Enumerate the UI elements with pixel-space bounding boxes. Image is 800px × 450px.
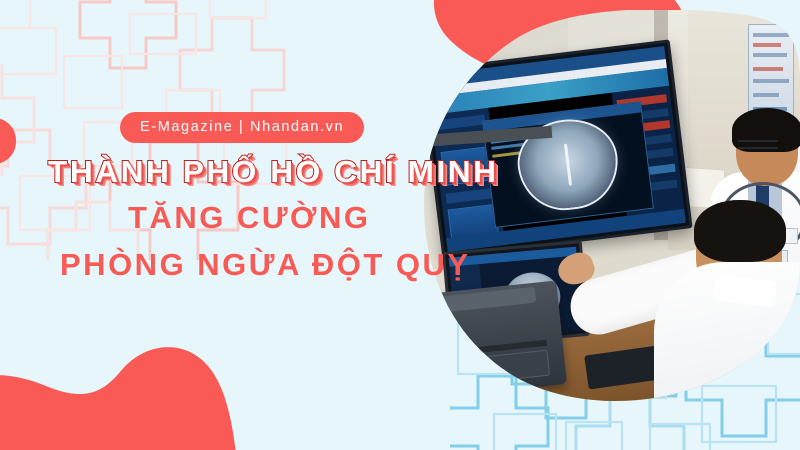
hero-photo-clip [418,10,800,402]
headline-line-3: PHÒNG NGỪA ĐỘT QUỴ [60,247,471,283]
emagazine-badge: E-Magazine | Nhandan.vn [120,112,364,143]
photo-printer [418,280,567,399]
headline-line-1: THÀNH PHỐ HỒ CHÍ MINH [48,154,499,190]
photo-doctor-front-hair [694,200,786,262]
poster-canvas: E-Magazine | Nhandan.vn THÀNH PHỐ HỒ CHÍ… [0,0,800,450]
hero-photo [418,10,800,402]
red-tab-left-edge [0,118,16,164]
red-organic-blob-bottom-left [0,310,240,450]
headline-line-2: TĂNG CƯỜNG [128,200,370,236]
photo-wall-display [419,39,692,258]
photo-doctor-young-glasses [738,140,778,149]
